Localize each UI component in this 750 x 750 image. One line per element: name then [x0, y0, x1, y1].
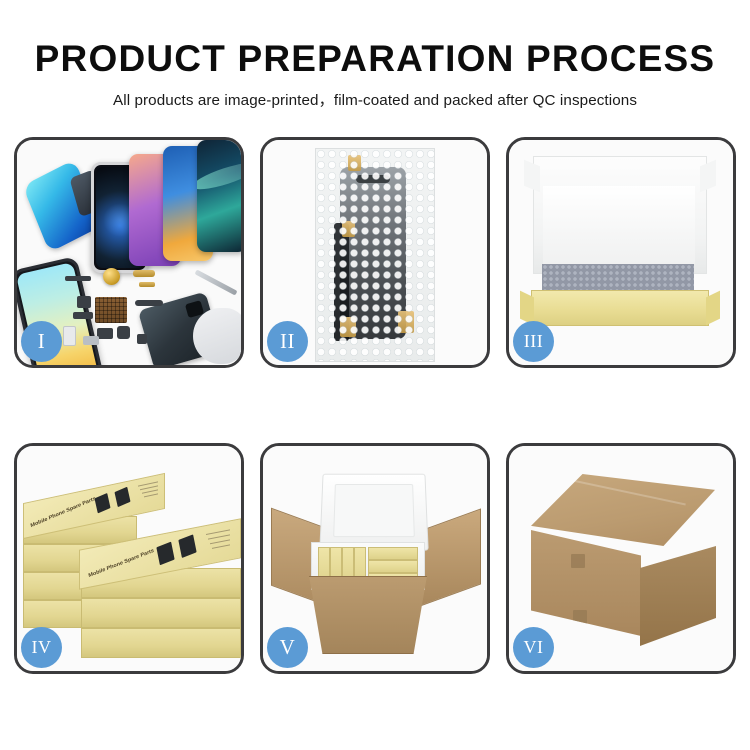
phone-screen-teal — [197, 140, 241, 252]
packed-yellow-box — [368, 547, 418, 560]
foam-sheet — [543, 186, 695, 264]
panel-step-2[interactable]: II — [260, 137, 490, 368]
spare-part — [83, 336, 99, 345]
stacked-box — [81, 628, 241, 658]
page-subtitle: All products are image-printed，film-coat… — [0, 88, 750, 110]
stacked-box — [81, 598, 241, 628]
box-stack: Mobile Phone Spare Parts Mobile Phone Sp… — [23, 460, 239, 660]
box-label-text: Mobile Phone Spare Parts — [30, 496, 96, 529]
panel-step-5[interactable]: V — [260, 443, 490, 674]
spare-part — [139, 282, 155, 287]
page-header: PRODUCT PREPARATION PROCESS All products… — [0, 0, 750, 110]
carton-body — [301, 576, 435, 654]
panel-badge-2: II — [267, 321, 308, 362]
foam-lid — [319, 474, 428, 551]
spare-part — [63, 326, 76, 346]
carton-side-face — [640, 546, 716, 646]
bubble-wrap-bag — [315, 148, 435, 362]
hand-graphic — [193, 308, 241, 364]
box-spec-line — [210, 539, 230, 544]
spare-part — [133, 270, 155, 277]
packed-yellow-box — [368, 560, 418, 573]
box-spec-line — [212, 544, 230, 548]
box-label-text: Mobile Phone Spare Parts — [88, 548, 154, 579]
panel-badge-3: III — [513, 321, 554, 362]
panel-step-6[interactable]: VI — [506, 443, 736, 674]
panel-step-4[interactable]: Mobile Phone Spare Parts Mobile Phone Sp… — [14, 443, 244, 674]
panel-step-1[interactable]: I — [14, 137, 244, 368]
box-art-swatch — [156, 542, 174, 566]
box-art-swatch — [94, 493, 110, 513]
panel-badge-6: VI — [513, 627, 554, 668]
spare-part — [135, 300, 163, 306]
panel-badge-1: I — [21, 321, 62, 362]
panel-badge-5: V — [267, 627, 308, 668]
spare-part — [73, 312, 93, 319]
spare-part — [77, 296, 91, 308]
panel-step-3[interactable]: III — [506, 137, 736, 368]
bubble-texture — [316, 149, 434, 361]
box-art-swatch — [114, 487, 130, 507]
process-panel-grid: I II III — [14, 137, 736, 682]
box-art-swatch — [178, 534, 196, 558]
carton-tape — [573, 610, 587, 624]
spare-part — [117, 326, 130, 339]
page-title: PRODUCT PREPARATION PROCESS — [0, 40, 750, 79]
yellow-box-tray — [531, 290, 709, 326]
spare-part — [65, 276, 91, 281]
carton-front-face — [531, 530, 641, 636]
box-spec-line — [144, 493, 158, 497]
speaker-module-icon — [103, 268, 120, 285]
carton-tape — [571, 554, 585, 568]
chip-board-part — [95, 297, 127, 323]
spare-part — [97, 328, 113, 339]
spare-part — [137, 334, 147, 344]
carton-seam — [558, 477, 686, 506]
carton-top-face — [531, 474, 715, 546]
grey-bubble-wrap — [542, 264, 694, 292]
panel-badge-4: IV — [21, 627, 62, 668]
